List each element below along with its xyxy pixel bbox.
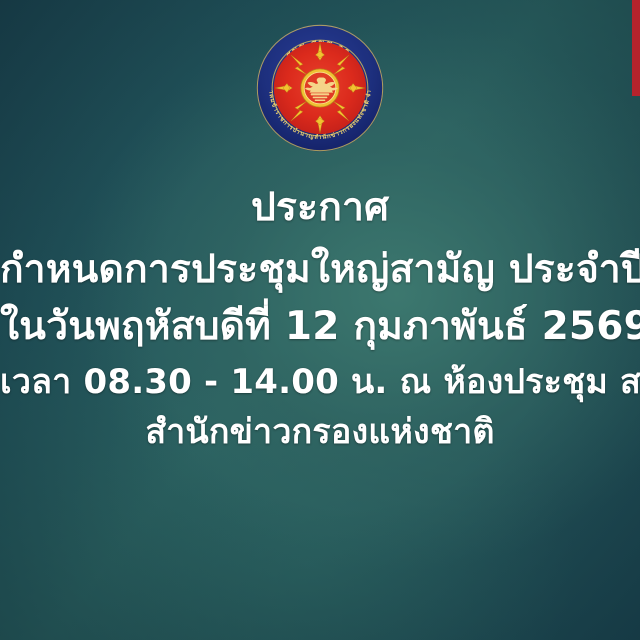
announcement-time-and-place: เวลา 08.30 - 14.00 น. ณ ห้องประชุม สขช. … [0, 363, 640, 401]
announcement-text-block: ประกาศ กำหนดการประชุมใหญ่สามัญ ประจำปี 2… [0, 186, 640, 451]
announcement-heading: ประกาศ [0, 186, 640, 230]
announcement-date: ในวันพฤหัสบดีที่ 12 กุมภาพันธ์ 2569 [0, 305, 640, 349]
announcement-poster: สขช.สขช.จก. สมาคมข้าราชการบำนาญสำนักข่าว… [0, 0, 640, 640]
announcement-subject: กำหนดการประชุมใหญ่สามัญ ประจำปี 2569 [0, 248, 640, 292]
announcement-organization: สำนักข่าวกรองแห่งชาติ [0, 413, 640, 451]
national-intelligence-agency-emblem-icon: สขช.สขช.จก. สมาคมข้าราชการบำนาญสำนักข่าว… [254, 22, 386, 154]
emblem-container: สขช.สขช.จก. สมาคมข้าราชการบำนาญสำนักข่าว… [0, 22, 640, 154]
